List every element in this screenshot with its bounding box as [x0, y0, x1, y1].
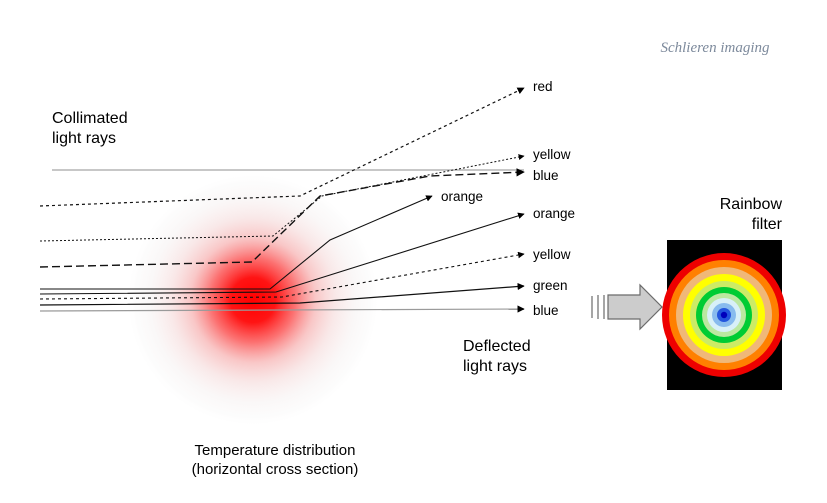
ray-label-yellow-mid: yellow — [533, 246, 571, 263]
ray-label-orange-in: orange — [441, 188, 483, 205]
ray-label-blue-bot: blue — [533, 302, 559, 319]
ring-dark-blue — [721, 312, 727, 318]
label-deflected-light-rays: Deflectedlight rays — [463, 337, 531, 378]
schlieren-imaging-figure: Schlieren imaging — [0, 0, 827, 503]
ray-label-yellow-top: yellow — [533, 146, 571, 163]
optics-diagram-canvas — [0, 0, 827, 503]
rainbow-filter-rings — [662, 253, 786, 377]
ray-label-orange-out: orange — [533, 205, 575, 222]
label-rainbow-filter: Rainbowfilter — [680, 195, 782, 236]
ray-label-red: red — [533, 78, 553, 95]
ray-label-blue-top: blue — [533, 167, 559, 184]
ray-label-green: green — [533, 277, 568, 294]
label-collimated-light-rays: Collimatedlight rays — [52, 109, 128, 150]
transfer-arrow-body — [608, 285, 662, 329]
transfer-arrow — [592, 285, 662, 329]
rainbow-filter-panel — [662, 240, 786, 390]
label-temperature-distribution: Temperature distribution(horizontal cros… — [140, 441, 410, 479]
